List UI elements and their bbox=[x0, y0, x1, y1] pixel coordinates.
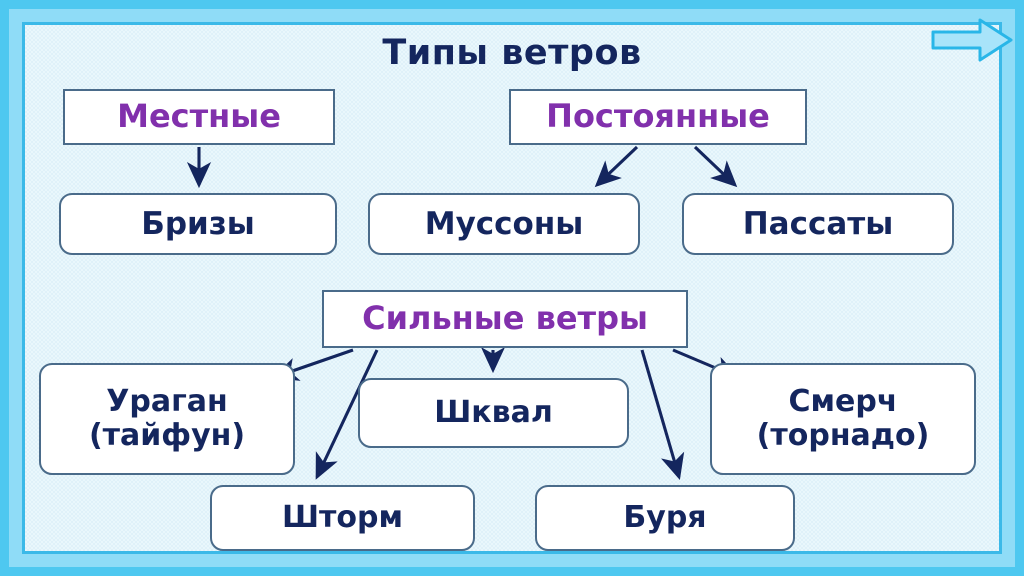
slide-content-area: Типы ветров bbox=[25, 25, 999, 551]
node-label-line1: Смерч bbox=[789, 384, 898, 419]
slide-canvas: Типы ветров bbox=[0, 0, 1024, 576]
node-label-line2: (торнадо) bbox=[757, 418, 930, 453]
node-label: Бризы bbox=[61, 207, 335, 242]
node-passaty[interactable]: Пассаты bbox=[682, 193, 954, 255]
node-shtorm[interactable]: Шторм bbox=[210, 485, 475, 551]
page-title: Типы ветров bbox=[25, 33, 999, 73]
node-postoyannye[interactable]: Постоянные bbox=[509, 89, 807, 145]
node-label: Шквал bbox=[360, 396, 627, 430]
node-mussony[interactable]: Муссоны bbox=[368, 193, 640, 255]
node-label-multiline: Ураган (тайфун) bbox=[41, 385, 293, 452]
node-burya[interactable]: Буря bbox=[535, 485, 795, 551]
node-label: Пассаты bbox=[684, 207, 952, 242]
node-brizy[interactable]: Бризы bbox=[59, 193, 337, 255]
node-smerch[interactable]: Смерч (торнадо) bbox=[710, 363, 976, 475]
node-shkval[interactable]: Шквал bbox=[358, 378, 629, 448]
edge-postoyannye-passaty bbox=[695, 147, 735, 185]
node-label-line1: Ураган bbox=[106, 384, 228, 419]
node-silnye-vetry[interactable]: Сильные ветры bbox=[322, 290, 688, 348]
arrow-right-icon[interactable] bbox=[930, 16, 1014, 64]
node-label-line2: (тайфун) bbox=[89, 418, 245, 453]
node-label: Сильные ветры bbox=[324, 301, 686, 337]
node-label: Постоянные bbox=[511, 99, 805, 135]
node-label-multiline: Смерч (торнадо) bbox=[712, 385, 974, 452]
node-uragan[interactable]: Ураган (тайфун) bbox=[39, 363, 295, 475]
node-mestnye[interactable]: Местные bbox=[63, 89, 335, 145]
edge-silnye-burya bbox=[642, 350, 679, 477]
node-label: Шторм bbox=[212, 501, 473, 535]
node-label: Буря bbox=[537, 501, 793, 535]
node-label: Местные bbox=[65, 99, 333, 135]
edge-postoyannye-mussony bbox=[597, 147, 637, 185]
node-label: Муссоны bbox=[370, 207, 638, 242]
